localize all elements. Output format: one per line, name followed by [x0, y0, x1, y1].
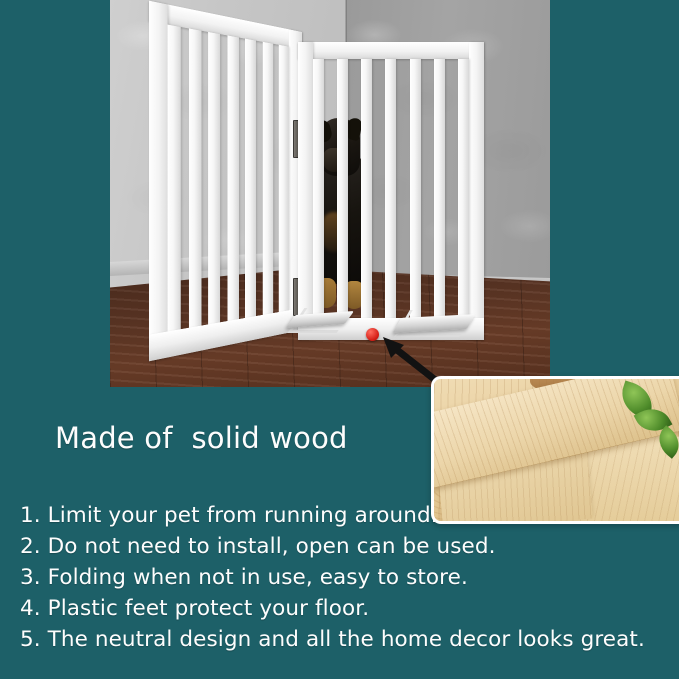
gate-slat — [385, 59, 396, 318]
gate-panel-right — [298, 42, 484, 340]
gate-stile-left — [149, 1, 168, 362]
gate-slat-group — [313, 59, 469, 318]
gate-slat — [168, 25, 181, 332]
gate-slat — [434, 59, 445, 318]
gate-slat-group — [168, 25, 289, 332]
gate-slat — [337, 59, 348, 318]
feature-list: 1. Limit your pet from running around. 2… — [20, 500, 660, 655]
feature-item-5: 5. The neutral design and all the home d… — [20, 624, 660, 655]
gate-slat — [361, 59, 372, 318]
gate-slat — [227, 35, 238, 321]
gate-stile-right — [469, 42, 484, 340]
gate-slat — [410, 59, 421, 318]
gate-rail-top — [298, 42, 484, 59]
gate-slat — [279, 45, 289, 312]
feature-item-2: 2. Do not need to install, open can be u… — [20, 531, 660, 562]
gate-slat — [188, 28, 201, 327]
gate-stile-left — [298, 42, 313, 340]
gate-slat — [262, 42, 272, 315]
hero-product-photo — [110, 0, 550, 387]
feature-item-4: 4. Plastic feet protect your floor. — [20, 593, 660, 624]
gate-panel-left — [149, 1, 302, 362]
gate-slat — [245, 39, 256, 318]
gate-slat — [458, 59, 469, 318]
feature-item-1: 1. Limit your pet from running around. — [20, 500, 660, 531]
product-infographic: Made of solid wood 1. Limit your pet fro… — [0, 0, 679, 679]
gate-slat — [208, 32, 220, 324]
headline-made-of-solid-wood: Made of solid wood — [55, 421, 348, 455]
feature-item-3: 3. Folding when not in use, easy to stor… — [20, 562, 660, 593]
gate-slat — [313, 59, 324, 318]
